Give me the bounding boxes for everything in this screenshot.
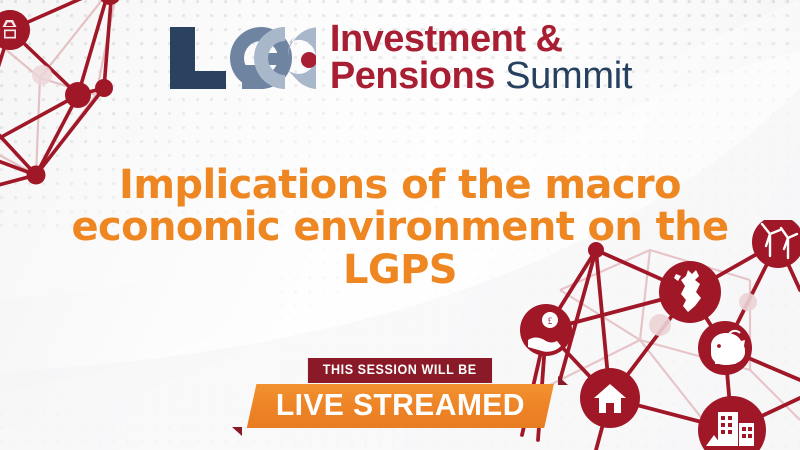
lgc-logo-mark	[168, 25, 316, 91]
wordmark-pensions: Pensions	[330, 55, 495, 97]
banner-main-label: LIVE STREAMED	[246, 384, 553, 428]
banner-top-label: THIS SESSION WILL BE	[308, 358, 492, 383]
wordmark-summit: Summit	[505, 55, 632, 97]
brand-wordmark: Investment & Pensions Summit	[330, 21, 632, 95]
live-streamed-banner: THIS SESSION WILL BE LIVE STREAMED	[0, 358, 800, 428]
wordmark-investment: Investment &	[330, 18, 563, 60]
logo-dot-icon	[301, 52, 316, 68]
session-title: Implications of the macro economic envir…	[60, 164, 740, 291]
logo-letter-l	[170, 27, 226, 89]
presentation-slide: £	[0, 0, 800, 450]
banner-main-wrap: LIVE STREAMED	[242, 384, 559, 428]
banner-fold-right	[558, 376, 568, 385]
brand-logo-row: Investment & Pensions Summit	[0, 18, 800, 98]
banner-fold-left	[232, 427, 242, 436]
wordmark-line-2: Pensions Summit	[330, 58, 632, 95]
wordmark-line-1: Investment &	[330, 21, 632, 58]
